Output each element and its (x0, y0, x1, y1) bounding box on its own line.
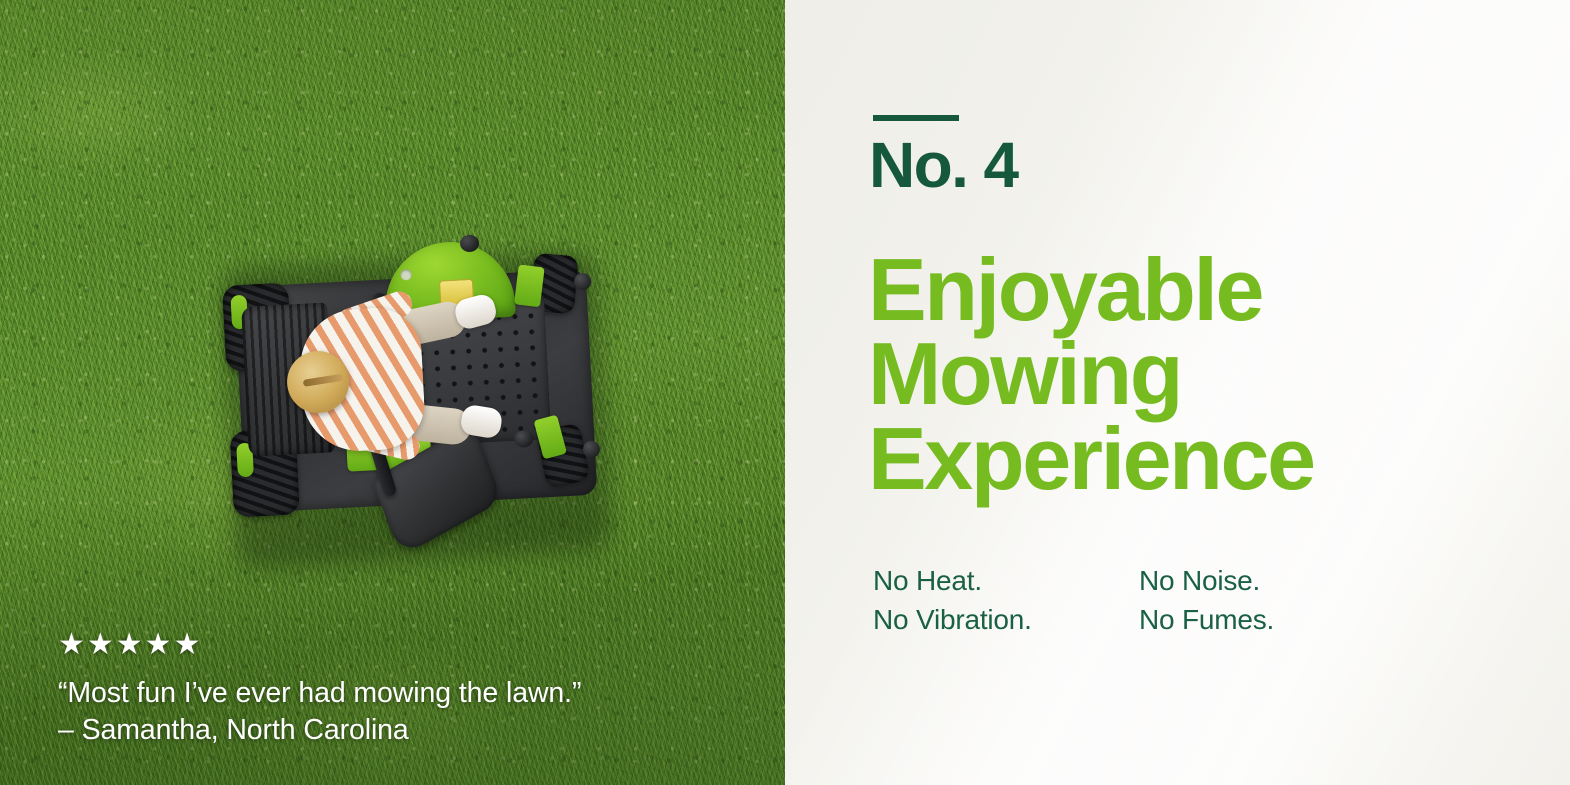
rank-eyebrow: No. 4 (869, 132, 1017, 199)
feature-column-2: No Noise. No Fumes. (1139, 562, 1405, 639)
lifestyle-photo: ★★★★★ “Most fun I’ve ever had mowing the… (0, 0, 785, 785)
customer-testimonial: ★★★★★ “Most fun I’ve ever had mowing the… (58, 630, 718, 749)
headline-line-3: Experience (868, 417, 1314, 501)
headline-line-1: Enjoyable (868, 248, 1314, 332)
feature-poster: ★★★★★ “Most fun I’ve ever had mowing the… (0, 0, 1570, 785)
star-rating-icon: ★★★★★ (58, 630, 718, 660)
accent-rule (873, 115, 959, 121)
testimonial-quote: “Most fun I’ve ever had mowing the lawn.… (58, 675, 718, 712)
testimonial-attribution: – Samantha, North Carolina (58, 712, 718, 749)
content-inner: No. 4 Enjoyable Mowing Experience No Hea… (873, 0, 1513, 785)
feature-list: No Heat. No Vibration. No Noise. No Fume… (873, 562, 1405, 639)
content-panel: No. 4 Enjoyable Mowing Experience No Hea… (785, 0, 1570, 785)
feature-item-no-fumes: No Fumes. (1139, 601, 1405, 640)
feature-item-no-noise: No Noise. (1139, 562, 1405, 601)
feature-column-1: No Heat. No Vibration. (873, 562, 1139, 639)
page-title: Enjoyable Mowing Experience (868, 248, 1314, 501)
feature-item-no-vibration: No Vibration. (873, 601, 1139, 640)
feature-item-no-heat: No Heat. (873, 562, 1139, 601)
headline-line-2: Mowing (868, 332, 1314, 416)
